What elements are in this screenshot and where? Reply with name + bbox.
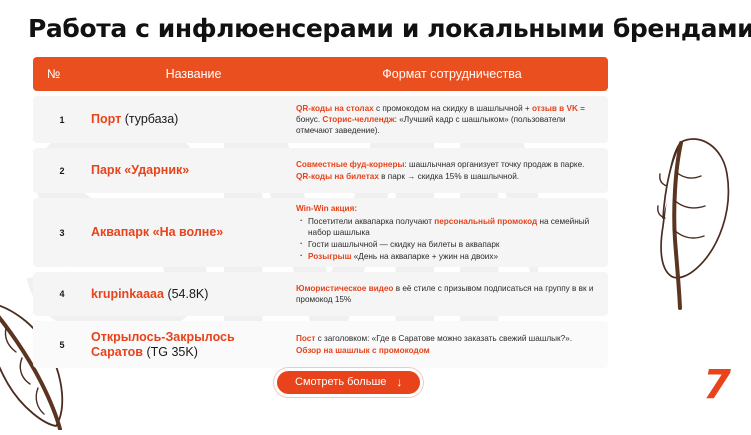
table-row[interactable]: 5 Открылось-Закрылось Саратов (TG 35K) П… [33,321,608,368]
row-number: 1 [33,115,91,125]
table-row[interactable]: 3 Аквапарк «На волне» Win-Win акция:Посе… [33,198,608,267]
row-number: 4 [33,289,91,299]
row-format: Win-Win акция:Посетители аквапарка получ… [296,203,608,263]
row-format: Юмористическое видео в её стиле с призыв… [296,283,608,305]
row-format: Пост с заголовком: «Где в Саратове можно… [296,333,608,355]
row-name: Порт (турбаза) [91,112,296,127]
row-name: Аквапарк «На волне» [91,225,296,240]
show-more-label: Смотреть больше [295,376,386,388]
row-number: 2 [33,166,91,176]
collaboration-table: № Название Формат сотрудничества 1 Порт … [33,57,608,368]
row-name: Открылось-Закрылось Саратов (TG 35K) [91,330,296,360]
row-number: 5 [33,340,91,350]
page-title: Работа с инфлюенсерами и локальными брен… [28,14,751,43]
row-name: Парк «Ударник» [91,163,296,178]
feather-illustration-right [657,126,749,317]
table-row[interactable]: 4 krupinkaaaa (54.8K) Юмористическое вид… [33,272,608,316]
row-format: QR-коды на столах с промокодом на скидку… [296,103,608,137]
column-header-format: Формат сотрудничества [296,67,608,81]
row-format: Совместные фуд-корнеры: шашлычная органи… [296,159,608,181]
show-more-button[interactable]: Смотреть больше ↓ [274,368,423,397]
row-number: 3 [33,228,91,238]
arrow-down-icon: ↓ [396,376,402,388]
table-row[interactable]: 2 Парк «Ударник» Совместные фуд-корнеры:… [33,148,608,193]
table-header-row: № Название Формат сотрудничества [33,57,608,91]
column-header-name: Название [91,67,296,81]
table-row[interactable]: 1 Порт (турбаза) QR-коды на столах с про… [33,96,608,143]
brand-logo-seven: 7 [703,365,729,405]
column-header-number: № [33,67,91,81]
row-name: krupinkaaaa (54.8K) [91,287,296,302]
